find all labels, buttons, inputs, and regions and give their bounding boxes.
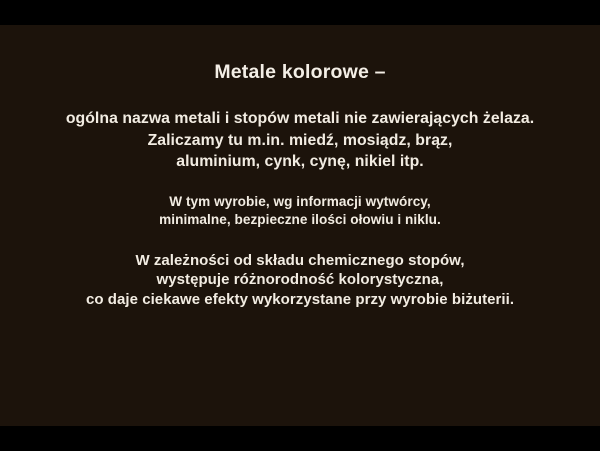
slide-content: Metale kolorowe – ogólna nazwa metali i … — [0, 0, 600, 309]
letterbox-bar-top — [0, 0, 600, 25]
paragraph-color-variety: W zależności od składu chemicznego stopó… — [0, 230, 600, 310]
paragraph-line: aluminium, cynk, cynę, nikiel itp. — [0, 151, 600, 173]
letterbox-bar-bottom — [0, 426, 600, 451]
paragraph-line: Zaliczamy tu m.in. miedź, mosiądz, brąz, — [0, 130, 600, 152]
paragraph-definition: ogólna nazwa metali i stopów metali nie … — [0, 83, 600, 173]
paragraph-line: występuje różnorodność kolorystyczna, — [0, 270, 600, 290]
paragraph-line: co daje ciekawe efekty wykorzystane przy… — [0, 290, 600, 310]
slide-frame: Metale kolorowe – ogólna nazwa metali i … — [0, 0, 600, 451]
paragraph-line: ogólna nazwa metali i stopów metali nie … — [0, 108, 600, 130]
paragraph-line: W tym wyrobie, wg informacji wytwórcy, — [0, 193, 600, 212]
paragraph-line: W zależności od składu chemicznego stopó… — [0, 251, 600, 271]
paragraph-line: minimalne, bezpieczne ilości ołowiu i ni… — [0, 211, 600, 230]
paragraph-manufacturer-note: W tym wyrobie, wg informacji wytwórcy, m… — [0, 173, 600, 230]
